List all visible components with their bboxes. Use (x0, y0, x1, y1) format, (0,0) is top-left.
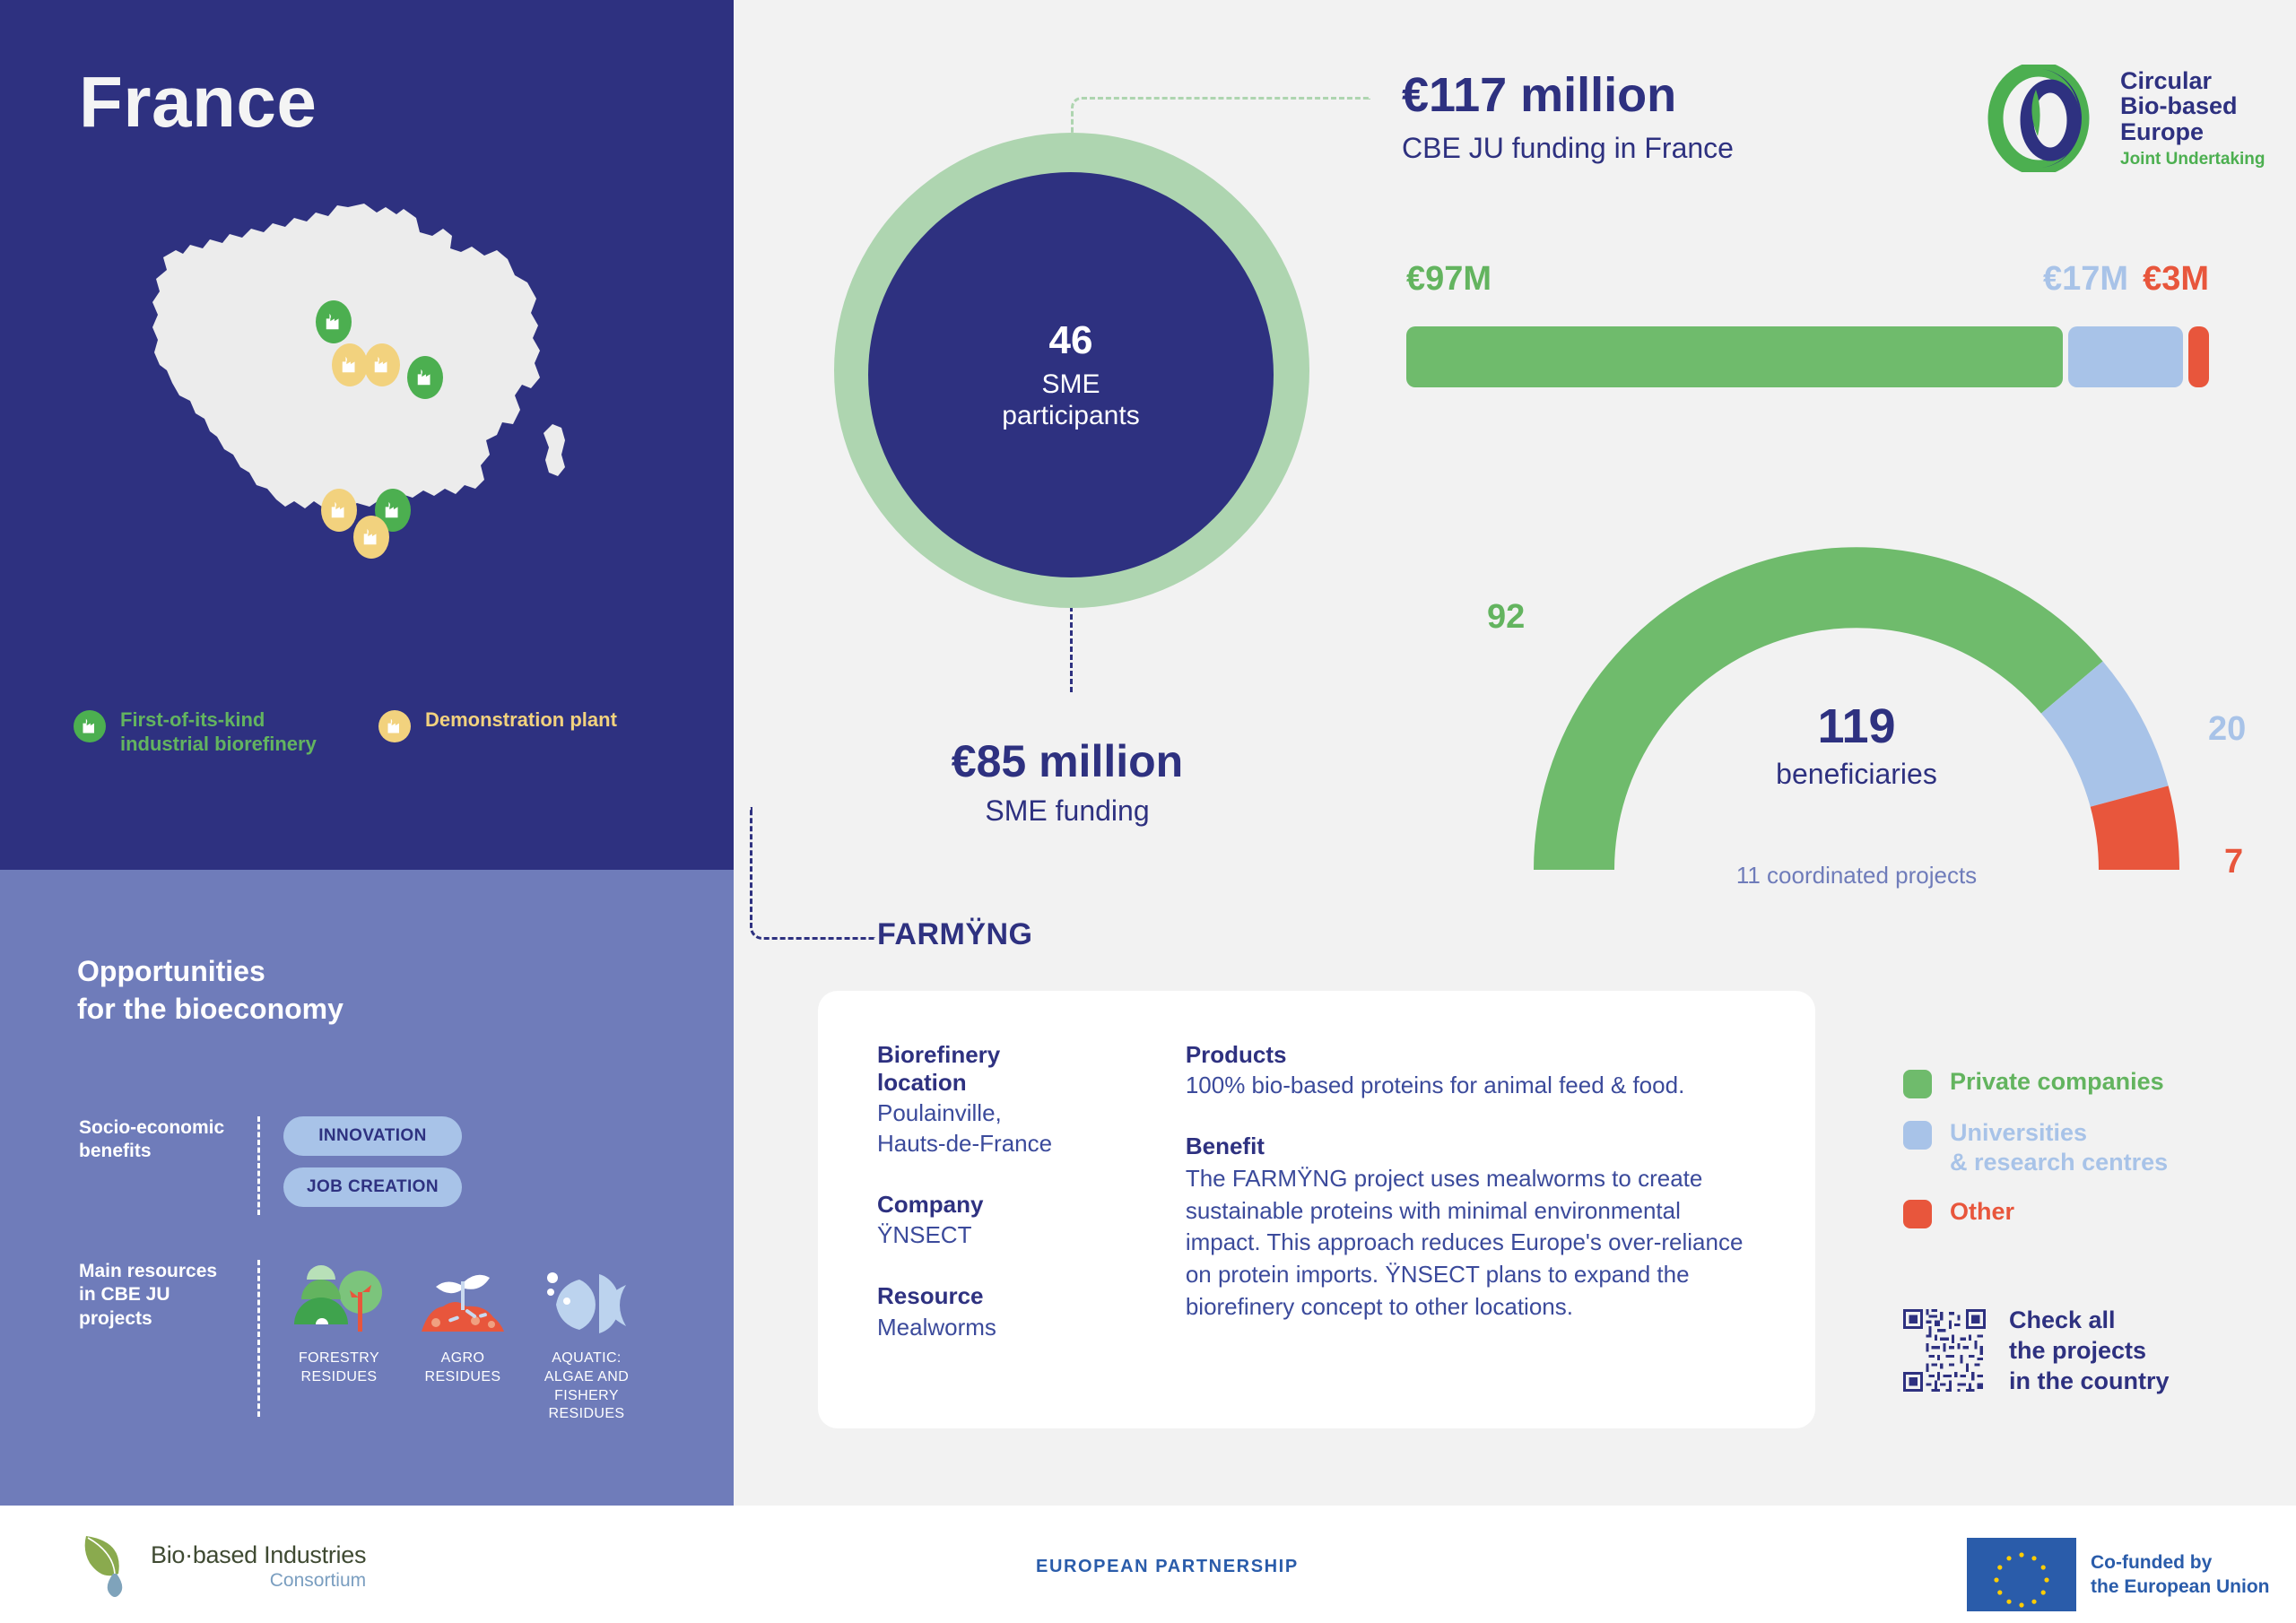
legend-label: First-of-its-kind industrial biorefinery (120, 708, 344, 757)
gauge-value-other: 7 (2224, 843, 2243, 881)
gauge-value-universities: 20 (2208, 710, 2246, 749)
legend-label: Other (1950, 1197, 2014, 1227)
bar-segment-private (1406, 326, 2063, 387)
badge-job-creation[interactable]: JOB CREATION (283, 1167, 462, 1207)
legend-label: Universities& research centres (1950, 1118, 2168, 1177)
funding-headline: €117 million CBE JU funding in France (1402, 70, 1734, 165)
factory-icon (340, 354, 360, 376)
map-pin-first-of-its-kind[interactable] (316, 300, 352, 343)
beneficiaries-label: beneficiaries (1776, 758, 1937, 791)
cbe-logo-title: CircularBio-basedEurope (2120, 68, 2266, 145)
connector-line-middle (1070, 606, 1073, 692)
field-company: Company ŸNSECT (877, 1191, 1144, 1250)
connector-line-project (750, 807, 875, 940)
sme-participants-label: SMEparticipants (1002, 369, 1139, 432)
map-pin-demonstration[interactable] (321, 489, 357, 532)
factory-icon (329, 499, 349, 521)
main-resources-block: Main resourcesin CBE JUprojects (79, 1260, 642, 1424)
qr-caption: Check allthe projectsin the country (2009, 1305, 2170, 1396)
funding-subtitle: CBE JU funding in France (1402, 132, 1734, 165)
map-legend: First-of-its-kind industrial biorefinery… (74, 708, 701, 757)
legend-item-demonstration-plant: Demonstration plant (378, 708, 617, 757)
eu-cofunding-block: Co-funded bythe European Union (1967, 1538, 2270, 1611)
factory-green-icon (74, 710, 106, 742)
legend-item-private-companies: Private companies (1903, 1067, 2168, 1098)
infographic-page: France First (0, 0, 2296, 1623)
resource-agro-residues: AGRORESIDUES (407, 1260, 518, 1424)
legend-swatch-blue (1903, 1121, 1932, 1150)
map-pin-first-of-its-kind[interactable] (407, 356, 443, 399)
qr-block[interactable]: Check allthe projectsin the country (1903, 1305, 2170, 1396)
agro-sprout-icon (407, 1260, 518, 1337)
bar-label-other: €3M (2143, 260, 2209, 299)
factory-icon (372, 354, 392, 376)
bar-segment-universities (2068, 326, 2183, 387)
field-resource: Resource Mealworms (877, 1282, 1144, 1341)
field-benefit: Benefit The FARMŸNG project uses mealwor… (1186, 1133, 1761, 1324)
funding-amount: €117 million (1402, 70, 1734, 121)
socio-economic-benefits-block: Socio-economicbenefits INNOVATION JOB CR… (79, 1116, 462, 1215)
project-card-right-column: Products 100% bio-based proteins for ani… (1186, 1041, 1761, 1428)
european-partnership-label: EUROPEAN PARTNERSHIP (1036, 1557, 1299, 1577)
sme-participants-value: 46 (1049, 318, 1093, 363)
legend-label: Private companies (1950, 1067, 2164, 1097)
sme-funding-block: €85 million SME funding (915, 735, 1220, 828)
cbe-ju-logo: CircularBio-basedEurope Joint Undertakin… (1973, 65, 2266, 172)
eu-cofunding-label: Co-funded bythe European Union (2091, 1550, 2270, 1600)
qr-code-icon[interactable] (1903, 1309, 1986, 1392)
project-name: FARMŸNG (877, 917, 1033, 952)
legend-item-first-of-its-kind: First-of-its-kind industrial biorefinery (74, 708, 344, 757)
bic-leaf-icon (79, 1531, 143, 1602)
project-card: Biorefinerylocation Poulainville,Hauts-d… (818, 991, 1815, 1428)
sme-funding-amount: €85 million (915, 735, 1220, 787)
resource-forestry-residues: FORESTRYRESIDUES (283, 1260, 395, 1424)
factory-icon (361, 526, 381, 548)
france-map (117, 193, 592, 614)
map-pin-demonstration[interactable] (353, 516, 389, 559)
field-value: ŸNSECT (877, 1220, 1144, 1250)
badge-innovation[interactable]: INNOVATION (283, 1116, 462, 1156)
aquatic-algae-fish-icon (531, 1260, 642, 1337)
field-heading: Resource (877, 1282, 1144, 1310)
bar-label-universities: €17M (2043, 260, 2128, 299)
map-pin-demonstration[interactable] (332, 343, 368, 386)
field-value: Poulainville,Hauts-de-France (877, 1098, 1144, 1159)
field-heading: Biorefinerylocation (877, 1041, 1144, 1097)
footer: Bio·based Industries Consortium EUROPEAN… (0, 1506, 2296, 1623)
field-value: The FARMŸNG project uses mealworms to cr… (1186, 1163, 1761, 1324)
cbe-logo-subtitle: Joint Undertaking (2120, 151, 2266, 169)
forest-trees-icon (283, 1260, 395, 1337)
field-products: Products 100% bio-based proteins for ani… (1186, 1041, 1761, 1100)
field-value: 100% bio-based proteins for animal feed … (1186, 1071, 1761, 1100)
coordinated-projects-note: 11 coordinated projects (1435, 862, 2278, 890)
factory-icon (383, 499, 403, 521)
bic-logo-line1: Bio·based Industries (151, 1543, 366, 1567)
beneficiaries-gauge: 119 beneficiaries 11 coordinated project… (1435, 484, 2278, 906)
resource-caption: FORESTRYRESIDUES (283, 1350, 395, 1387)
project-card-left-column: Biorefinerylocation Poulainville,Hauts-d… (877, 1041, 1144, 1428)
divider (257, 1116, 260, 1215)
cbe-leaf-circle-icon (1973, 65, 2104, 172)
legend-item-other: Other (1903, 1197, 2168, 1228)
legend-label: Demonstration plant (425, 708, 617, 733)
resource-caption: AQUATIC:ALGAE ANDFISHERYRESIDUES (531, 1350, 642, 1424)
map-pin-demonstration[interactable] (364, 343, 400, 386)
page-title: France (79, 61, 317, 143)
field-value: Mealworms (877, 1313, 1144, 1342)
france-map-shape (117, 193, 592, 614)
divider (257, 1260, 260, 1417)
bic-logo-line2: Consortium (151, 1571, 366, 1590)
main-resources-label: Main resourcesin CBE JUprojects (79, 1260, 254, 1331)
factory-yellow-icon (378, 710, 411, 742)
funding-bar-labels: €97M €17M €3M (1406, 260, 2209, 299)
factory-icon (324, 311, 344, 333)
bar-segment-other (2188, 326, 2209, 387)
factory-icon (415, 367, 435, 388)
sme-funding-label: SME funding (915, 794, 1220, 828)
field-heading: Products (1186, 1041, 1761, 1069)
legend-item-universities: Universities& research centres (1903, 1118, 2168, 1177)
sme-participants-circle: 46 SMEparticipants (868, 172, 1274, 577)
gauge-value-private: 92 (1487, 598, 1525, 637)
gauge-center-text: 119 beneficiaries (1435, 484, 2278, 906)
opportunities-title: Opportunitiesfor the bioeconomy (77, 953, 344, 1028)
funding-stacked-bar (1406, 326, 2209, 387)
field-biorefinery-location: Biorefinerylocation Poulainville,Hauts-d… (877, 1041, 1144, 1159)
eu-flag-icon (1967, 1538, 2076, 1611)
beneficiaries-count: 119 (1817, 699, 1895, 754)
legend-swatch-green (1903, 1070, 1932, 1098)
bic-logo: Bio·based Industries Consortium (79, 1531, 366, 1602)
bar-label-private: €97M (1406, 260, 1492, 299)
resource-aquatic-residues: AQUATIC:ALGAE ANDFISHERYRESIDUES (531, 1260, 642, 1424)
socio-economic-label: Socio-economicbenefits (79, 1116, 254, 1164)
field-heading: Benefit (1186, 1133, 1761, 1160)
resource-caption: AGRORESIDUES (407, 1350, 518, 1387)
legend-swatch-red (1903, 1200, 1932, 1228)
field-heading: Company (877, 1191, 1144, 1219)
beneficiary-type-legend: Private companies Universities& research… (1903, 1067, 2168, 1248)
